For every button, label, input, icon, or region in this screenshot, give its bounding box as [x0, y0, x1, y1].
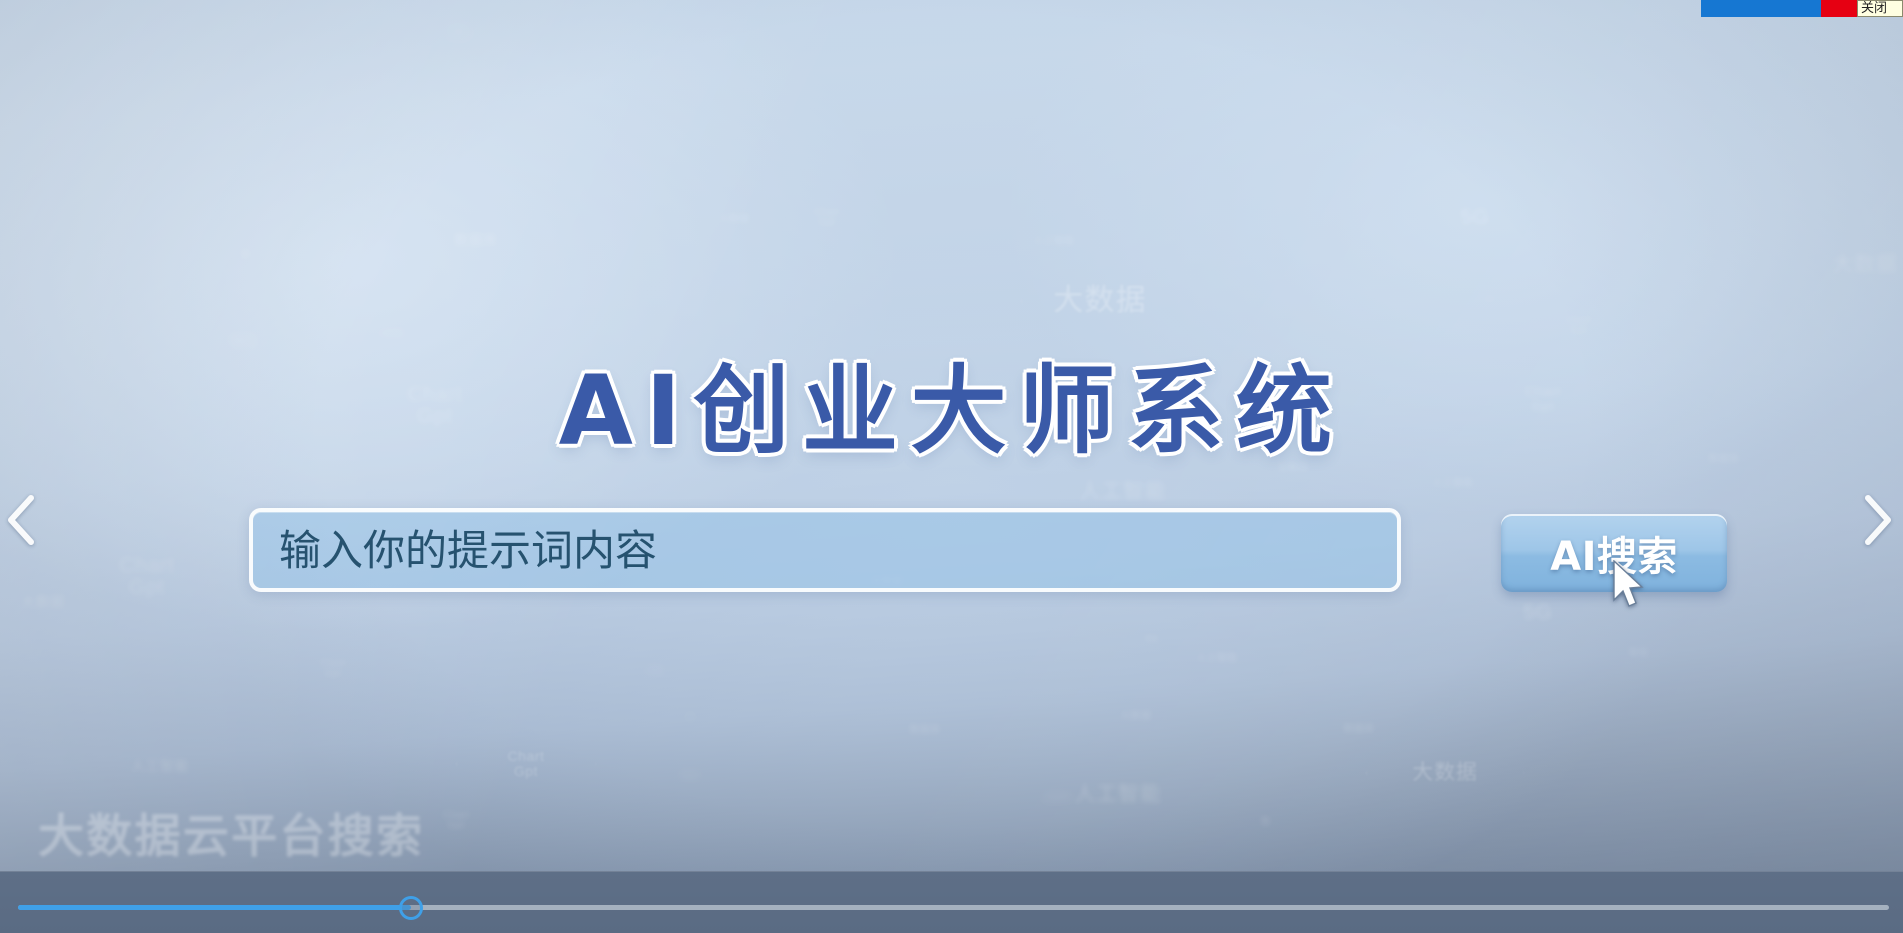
- chevron-right-icon[interactable]: [1857, 492, 1897, 548]
- top-chrome-strip: 关闭: [1701, 0, 1903, 17]
- slider-fill: [18, 905, 411, 910]
- chrome-blue-bar: [1701, 0, 1821, 17]
- page-title: AI创业大师系统: [0, 333, 1903, 472]
- prompt-input[interactable]: [249, 508, 1401, 592]
- chrome-close-box[interactable]: [1821, 0, 1857, 17]
- ai-search-button[interactable]: AI搜索: [1501, 514, 1727, 592]
- progress-slider[interactable]: [0, 898, 1903, 916]
- search-row: [249, 508, 1401, 592]
- bottom-bar: [0, 871, 1903, 933]
- close-tooltip: 关闭: [1857, 0, 1903, 17]
- slider-handle[interactable]: [399, 896, 423, 920]
- app-root: 数据库智能数5GChart Gpt大数据Chart Gpt大数据人工智能Char…: [0, 0, 1903, 933]
- chevron-left-icon[interactable]: [2, 492, 42, 548]
